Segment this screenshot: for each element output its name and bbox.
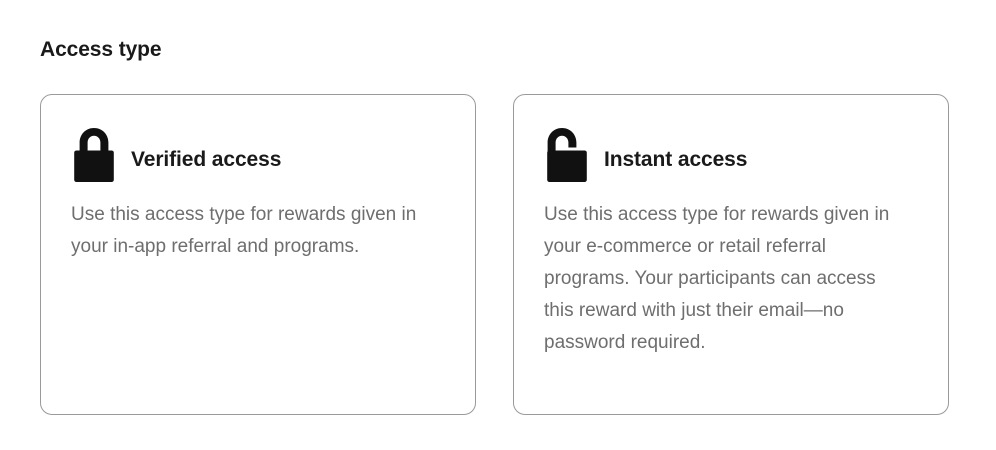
card-title: Instant access	[604, 147, 747, 173]
lock-open-icon	[544, 126, 590, 184]
lock-closed-icon	[71, 126, 117, 184]
access-type-card-list: Verified access Use this access type for…	[40, 94, 949, 415]
card-header: Verified access	[71, 125, 445, 185]
card-description: Use this access type for rewards given i…	[71, 199, 423, 263]
page-title: Access type	[40, 36, 161, 64]
card-description: Use this access type for rewards given i…	[544, 199, 896, 359]
access-type-card-verified[interactable]: Verified access Use this access type for…	[40, 94, 476, 415]
access-type-card-instant[interactable]: Instant access Use this access type for …	[513, 94, 949, 415]
access-type-section: Access type Verified access Use this acc…	[0, 0, 996, 450]
card-header: Instant access	[544, 125, 918, 185]
card-title: Verified access	[131, 147, 281, 173]
